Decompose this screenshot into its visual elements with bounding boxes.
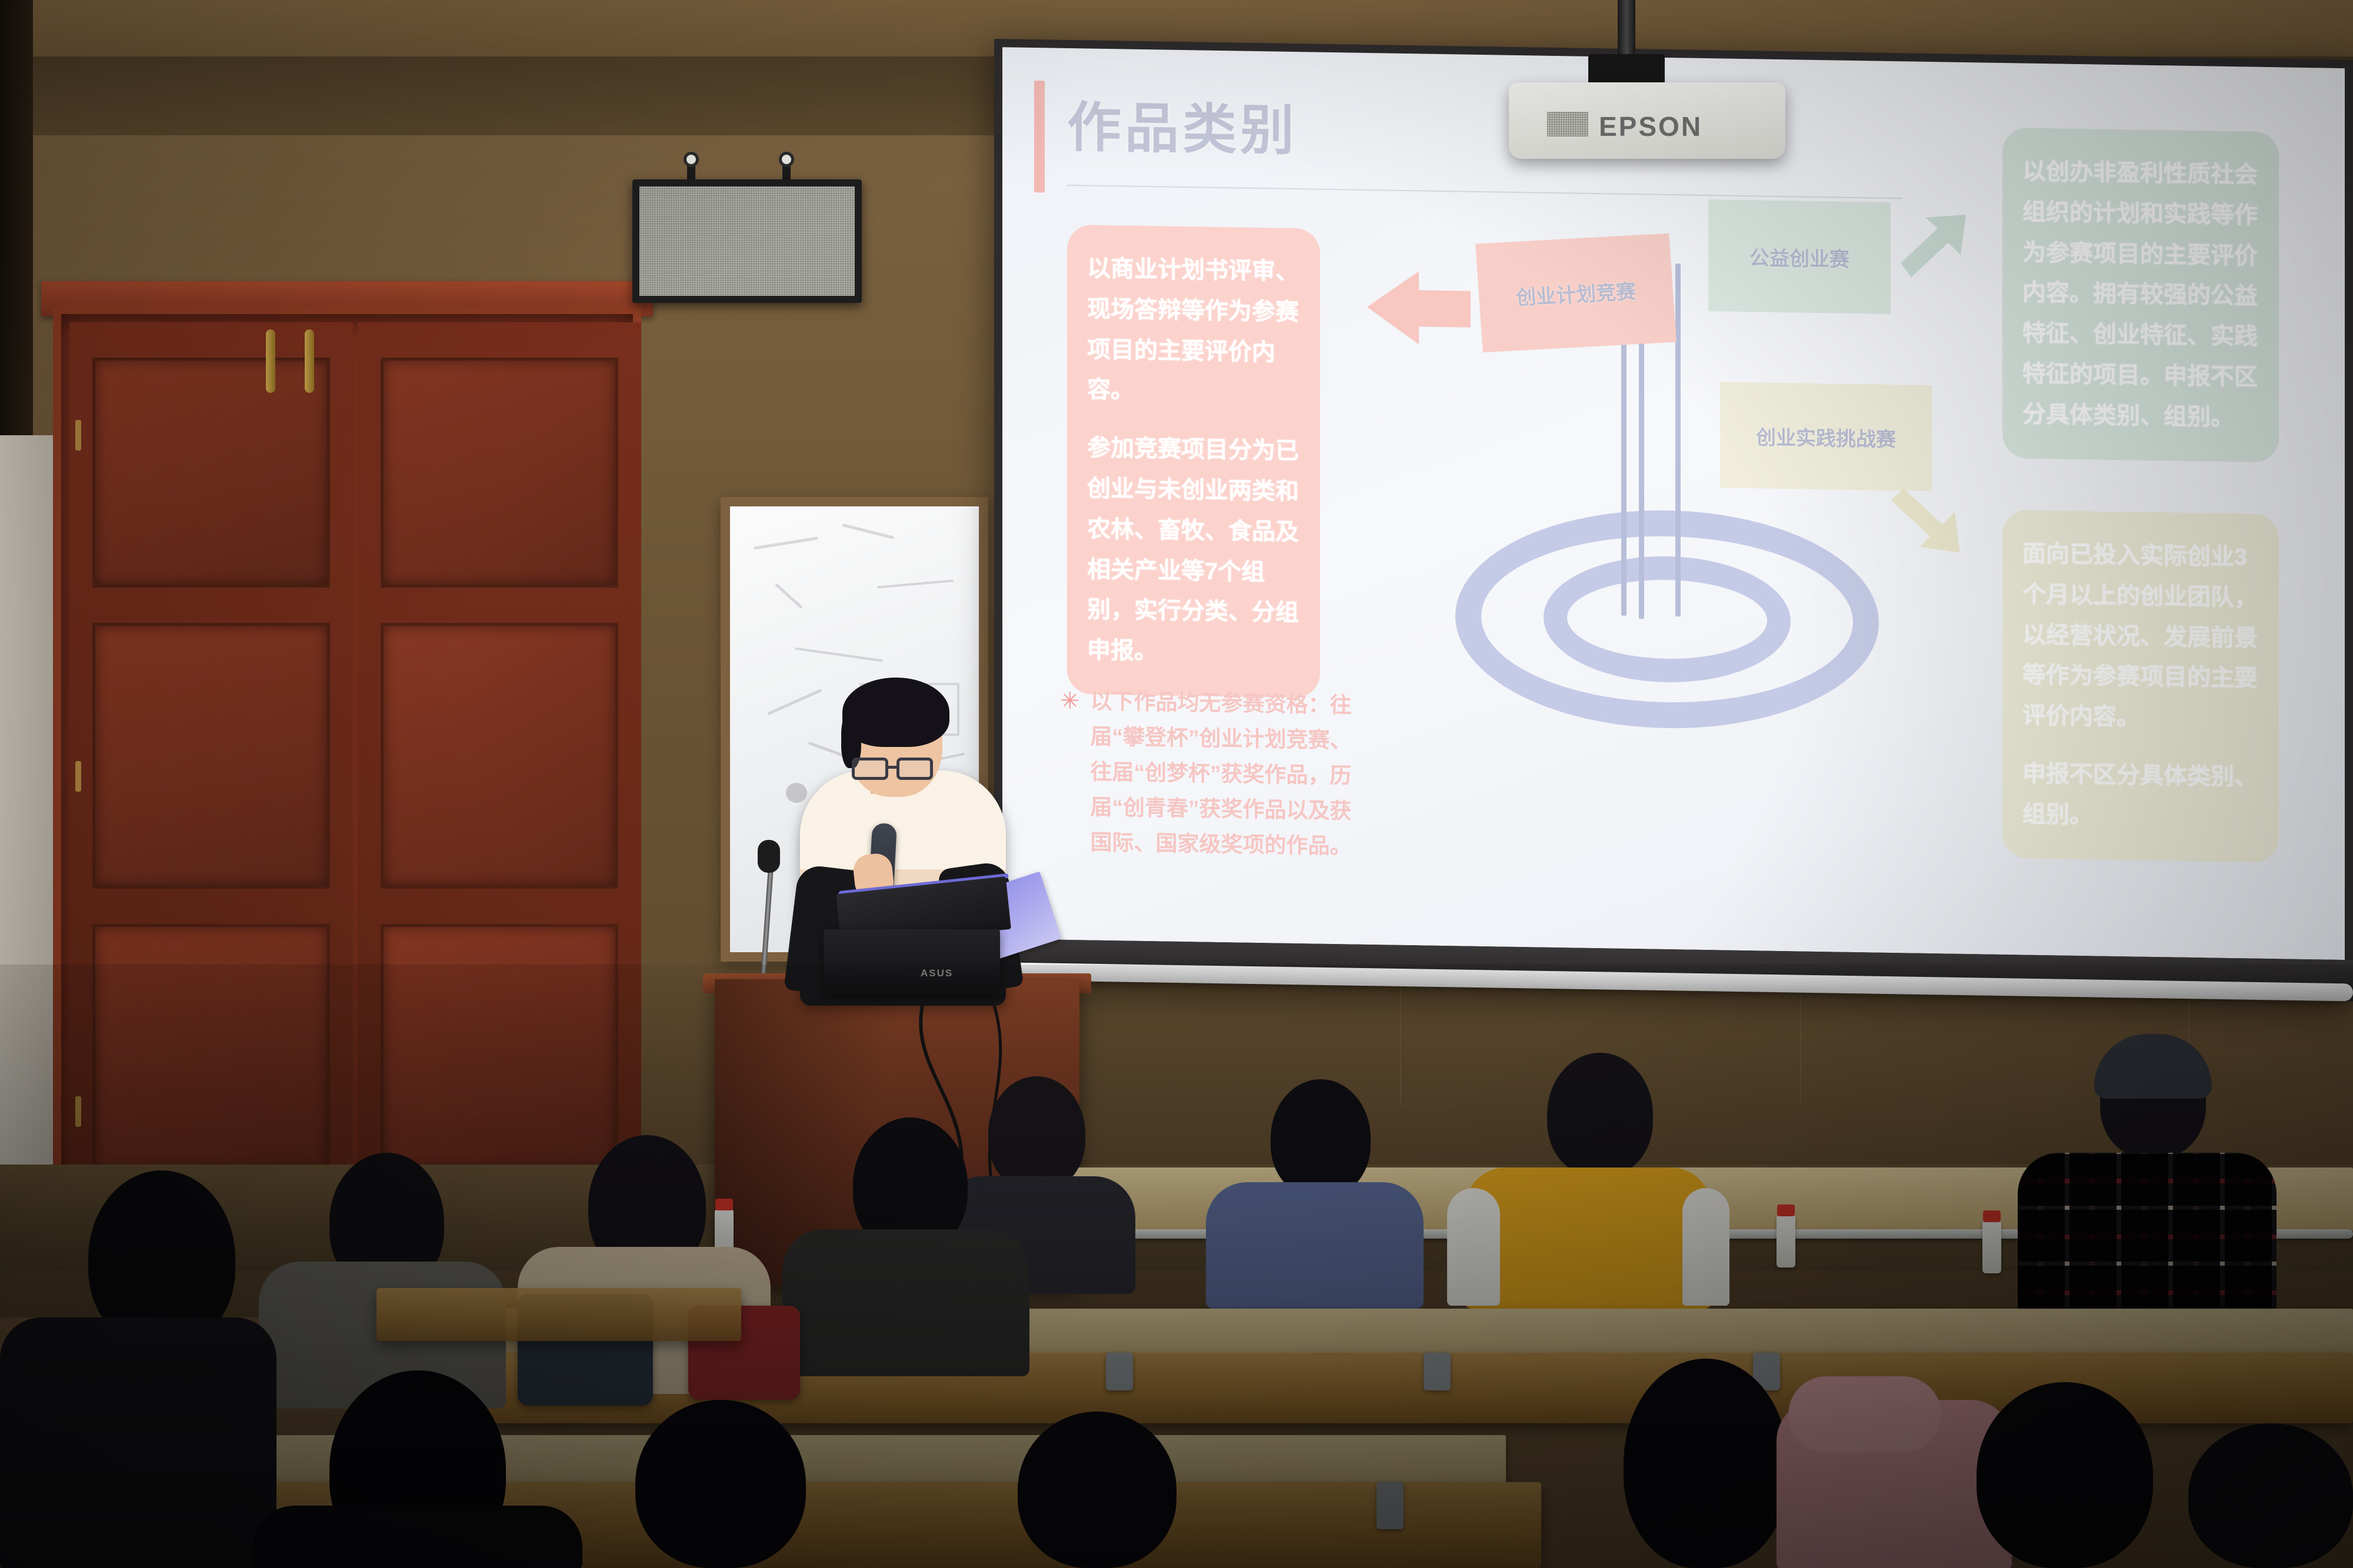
asterisk-icon: ✳ xyxy=(1060,683,1080,860)
audience-torso-plaid xyxy=(2018,1153,2277,1317)
arrow-northeast-icon xyxy=(1885,208,1973,298)
audience-head-foreground xyxy=(1624,1359,1788,1568)
arrow-left-icon xyxy=(1367,271,1419,344)
audience-sleeve-white xyxy=(1447,1188,1500,1306)
flag-plan-competition: 创业计划竞赛 xyxy=(1475,233,1677,353)
slide-divider xyxy=(1067,185,1902,199)
card-pink-paragraph-2: 参加竞赛项目分为已创业与未创业两类和农林、畜牧、食品及相关产业等7个组别，实行分… xyxy=(1087,428,1300,674)
slide-note-text: 以下作品均无参赛资格：往届“攀登杯”创业计划竞赛、往届“创梦杯”获奖作品，历届“… xyxy=(1091,684,1372,865)
card-pink-paragraph-1: 以商业计划书评审、现场答辩等作为参赛项目的主要评价内容。 xyxy=(1087,248,1300,413)
bottle-cap xyxy=(715,1199,733,1210)
screen-surface: 作品类别 以商业计划书评审、现场答辩等作为参赛项目的主要评价内容。 参加竞赛项目… xyxy=(1002,47,2345,960)
audience-head-foreground xyxy=(1018,1412,1176,1568)
laptop-brand-label: ASUS xyxy=(921,968,953,979)
audience-head-foreground xyxy=(1977,1382,2153,1568)
slide-card-beige: 面向已投入实际创业3个月以上的创业团队，以经营状况、发展前景等作为参赛项目的主要… xyxy=(2002,510,2279,862)
door-panel xyxy=(92,358,331,588)
door-leaf-left[interactable] xyxy=(69,322,353,1207)
card-green-paragraph-1: 以创办非盈利性质社会组织的计划和实践等作为参赛项目的主要评价内容。拥有较强的公益… xyxy=(2022,151,2259,438)
arrow-left-tail xyxy=(1418,290,1471,327)
flagpole xyxy=(1675,263,1681,616)
puffer-hood xyxy=(1788,1376,1941,1453)
speaker-mount-screw xyxy=(684,152,699,167)
wooden-double-door[interactable] xyxy=(53,306,641,1223)
door-hinge xyxy=(75,1096,81,1127)
audience-head xyxy=(1271,1079,1371,1197)
bottle-cap xyxy=(1777,1205,1795,1216)
audience-sleeve-white xyxy=(1682,1188,1729,1306)
slide-title: 作品类别 xyxy=(1067,84,1298,165)
slide-card-pink: 以商业计划书评审、现场答辩等作为参赛项目的主要评价内容。 参加竞赛项目分为已创业… xyxy=(1067,225,1320,698)
door-leaf-right[interactable] xyxy=(358,322,641,1207)
door-hinge xyxy=(75,761,81,792)
door-panel xyxy=(381,358,619,588)
flag-label: 创业计划竞赛 xyxy=(1515,275,1637,311)
slide-card-green: 以创办非盈利性质社会组织的计划和实践等作为参赛项目的主要评价内容。拥有较强的公益… xyxy=(2002,128,2279,462)
door-panel xyxy=(92,924,331,1172)
seat-bracket xyxy=(1106,1353,1133,1390)
eyeglasses-right-lens xyxy=(896,758,933,780)
slide-accent-bar xyxy=(1034,81,1045,192)
flag-public-welfare: 公益创业赛 xyxy=(1708,199,1891,314)
audience-head xyxy=(1547,1053,1653,1176)
eyeglasses-bridge xyxy=(888,766,898,769)
microphone-capsule-icon xyxy=(758,840,780,873)
projector-brand-label: EPSON xyxy=(1599,111,1702,142)
projector-pole xyxy=(1618,0,1635,59)
slide-diagram: 创业计划竞赛 公益创业赛 创业实践挑战赛 xyxy=(1367,200,1979,868)
bench-segment xyxy=(376,1288,741,1341)
door-panel xyxy=(92,623,331,888)
projector-vent xyxy=(1547,112,1588,136)
lecture-hall-scene: 作品类别 以商业计划书评审、现场答辩等作为参赛项目的主要评价内容。 参加竞赛项目… xyxy=(0,0,2353,1568)
asus-laptop[interactable] xyxy=(824,929,1000,994)
door-hinge xyxy=(75,420,81,451)
seat-bracket xyxy=(1377,1482,1404,1529)
eyeglasses-left-lens xyxy=(852,758,888,780)
audience-head xyxy=(988,1076,1085,1191)
audience-torso xyxy=(1206,1182,1424,1309)
flag-label: 公益创业赛 xyxy=(1749,242,1849,272)
target-bullseye-icon xyxy=(1455,507,1879,731)
slide-note: ✳ 以下作品均无参赛资格：往届“攀登杯”创业计划竞赛、往届“创梦杯”获奖作品，历… xyxy=(1060,683,1372,865)
door-handle-left[interactable] xyxy=(266,329,275,393)
audience-torso xyxy=(782,1229,1029,1376)
audience-torso-foreground xyxy=(0,1317,276,1568)
card-beige-paragraph-2: 申报不区分具体类别、组别。 xyxy=(2022,753,2259,838)
sidewall-left xyxy=(0,0,33,447)
flag-practice-challenge: 创业实践挑战赛 xyxy=(1720,382,1932,491)
door-panel xyxy=(381,623,619,888)
water-bottle xyxy=(1982,1220,2001,1273)
speaker-grille xyxy=(639,186,855,296)
card-beige-paragraph-1: 面向已投入实际创业3个月以上的创业团队，以经营状况、发展前景等作为参赛项目的主要… xyxy=(2022,533,2259,739)
projection-screen: 作品类别 以商业计划书评审、现场答辩等作为参赛项目的主要评价内容。 参加竞赛项目… xyxy=(994,39,2353,1001)
audience-torso-yellow-hoodie xyxy=(1465,1167,1712,1309)
seat-bracket xyxy=(1424,1353,1451,1390)
water-bottle xyxy=(1777,1215,1795,1267)
wall-speaker xyxy=(632,179,862,303)
flag-label: 创业实践挑战赛 xyxy=(1756,421,1896,452)
audience-head-foreground xyxy=(2188,1423,2353,1568)
arrow-southeast-icon xyxy=(1879,485,1967,574)
speaker-mount-screw xyxy=(779,152,794,167)
audience-head-foreground xyxy=(635,1400,806,1568)
presentation-slide: 作品类别 以商业计划书评审、现场答辩等作为参赛项目的主要评价内容。 参加竞赛项目… xyxy=(1002,47,2345,960)
audience-torso-foreground xyxy=(253,1506,582,1568)
door-handle-right[interactable] xyxy=(305,329,314,393)
door-panel xyxy=(381,924,619,1172)
bottle-cap xyxy=(1983,1210,2001,1222)
